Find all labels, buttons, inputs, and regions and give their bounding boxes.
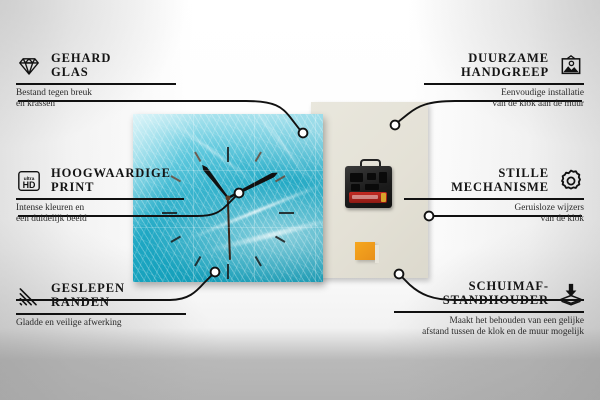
infographic-canvas: GEHARD GLAS Bestand tegen breuk en krass… [0,0,600,400]
ultra-hd-icon-bottom-text: HD [23,179,36,189]
feature-divider [16,313,186,315]
feature-title-line-1: HOOGWAARDIGE [51,167,171,181]
diamond-icon [16,53,42,79]
feature-description: Eenvoudige installatie van de klok aan d… [404,88,584,112]
ultra-hd-icon: ultra HD [16,168,42,194]
feature-title-line-1: GESLEPEN [51,282,125,296]
feature-title-line-1: DUURZAME [468,52,549,66]
feature-title-line-2: GLAS [51,66,111,80]
feature-description: Gladde en veilige afwerking [16,318,206,330]
feature-title-line-2: MECHANISME [451,181,549,195]
feature-stille-mechanisme: STILLE MECHANISME Geruisloze wijzers van… [404,167,584,226]
gear-icon [558,168,584,194]
feature-title-line-1: STILLE [498,167,549,181]
hands-center-cap [226,196,231,201]
clock-battery [349,192,387,203]
feature-description: Geruisloze wijzers van de klok [404,203,584,227]
feature-divider [16,83,176,85]
minute-hand [227,170,279,200]
feature-gehard-glas: GEHARD GLAS Bestand tegen breuk en krass… [16,52,196,111]
picture-hanger-icon [558,53,584,79]
foam-spacer-pad [355,242,375,260]
polished-edges-icon [16,283,42,309]
feature-divider [404,198,584,200]
second-hand [227,198,231,260]
feature-title-line-1: SCHUIMAF- [469,280,549,294]
feature-title-line-2: PRINT [51,181,171,195]
feature-title-line-2: RANDEN [51,296,125,310]
feature-hoogwaardige-print: ultra HD HOOGWAARDIGE PRINT Intense kleu… [16,167,206,226]
feature-schuimafstandhouder: SCHUIMAF- STANDHOUDER Maakt het behouden… [384,280,584,339]
feature-title-line-2: STANDHOUDER [443,294,549,308]
feature-divider [16,198,184,200]
feature-duurzame-handgreep: DUURZAME HANDGREEP Eenvoudige installati… [404,52,584,111]
feature-divider [424,83,584,85]
feature-geslepen-randen: GESLEPEN RANDEN Gladde en veilige afwerk… [16,282,206,329]
feature-title-line-1: GEHARD [51,52,111,66]
movement-body [345,166,392,208]
foam-spacer-icon [558,281,584,307]
feature-description: Bestand tegen breuk en krassen [16,88,196,112]
feature-description: Maakt het behouden van een gelijke afsta… [384,316,584,340]
feature-title-line-2: HANDGREEP [461,66,549,80]
clock-movement [345,166,392,208]
feature-divider [394,311,584,313]
feature-description: Intense kleuren en een duidelijk beeld [16,203,206,227]
